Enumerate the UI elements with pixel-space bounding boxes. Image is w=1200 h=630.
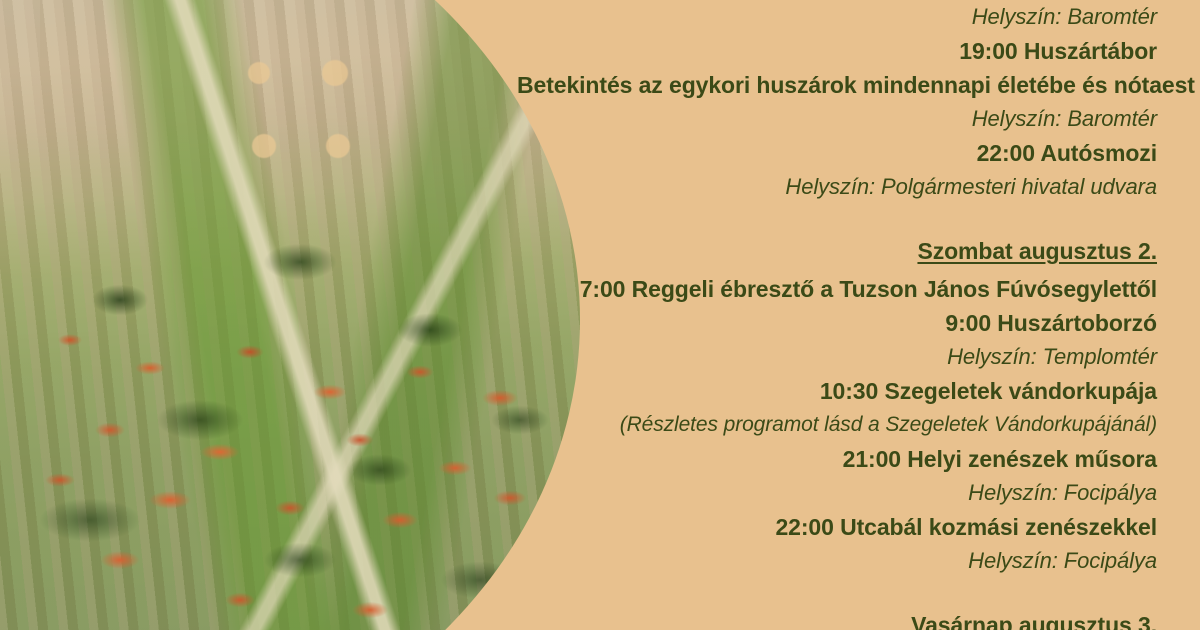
event-line: 22:00 Utcabál kozmási zenészekkel	[517, 510, 1157, 544]
event-line: 21:00 Helyi zenészek műsora	[517, 442, 1157, 476]
photo-elliptical-mask	[0, 0, 580, 630]
location-line: Helyszín: Baromtér	[517, 102, 1157, 136]
block-spacer	[517, 578, 1157, 608]
location-line: Helyszín: Focipálya	[517, 544, 1157, 578]
bokeh-dot-icon	[322, 60, 348, 86]
day-heading-saturday: Szombat augusztus 2.	[517, 234, 1157, 268]
day-heading-sunday: Vasárnap augusztus 3.	[517, 608, 1157, 630]
event-note: (Részletes programot lásd a Szegeletek V…	[517, 408, 1157, 442]
village-photo-panel	[0, 0, 600, 630]
location-line: Helyszín: Baromtér	[517, 0, 1157, 34]
event-line: 10:30 Szegeletek vándorkupája	[517, 374, 1157, 408]
event-description: Betekintés az egykori huszárok mindennap…	[517, 68, 1157, 102]
sunday-block: Vasárnap augusztus 3. 10:30 Ünnepi szent…	[517, 608, 1157, 630]
event-program-poster: Helyszín: Baromtér 19:00 Huszártábor Bet…	[0, 0, 1200, 630]
aerial-village-photograph	[0, 0, 580, 630]
saturday-block: Szombat augusztus 2. 7:00 Reggeli ébresz…	[517, 234, 1157, 578]
location-line: Helyszín: Polgármesteri hivatal udvara	[517, 170, 1157, 204]
block-spacer	[517, 204, 1157, 234]
bokeh-dot-icon	[326, 134, 350, 158]
event-line: 9:00 Huszártoborzó	[517, 306, 1157, 340]
location-line: Helyszín: Focipálya	[517, 476, 1157, 510]
location-line: Helyszín: Templomtér	[517, 340, 1157, 374]
bokeh-dot-icon	[248, 62, 270, 84]
event-line: 22:00 Autósmozi	[517, 136, 1157, 170]
program-schedule: Helyszín: Baromtér 19:00 Huszártábor Bet…	[517, 0, 1157, 630]
bokeh-dot-icon	[252, 134, 276, 158]
friday-block: Helyszín: Baromtér 19:00 Huszártábor Bet…	[517, 0, 1157, 204]
event-line: 19:00 Huszártábor	[517, 34, 1157, 68]
event-line: 7:00 Reggeli ébresztő a Tuzson János Fúv…	[517, 272, 1157, 306]
